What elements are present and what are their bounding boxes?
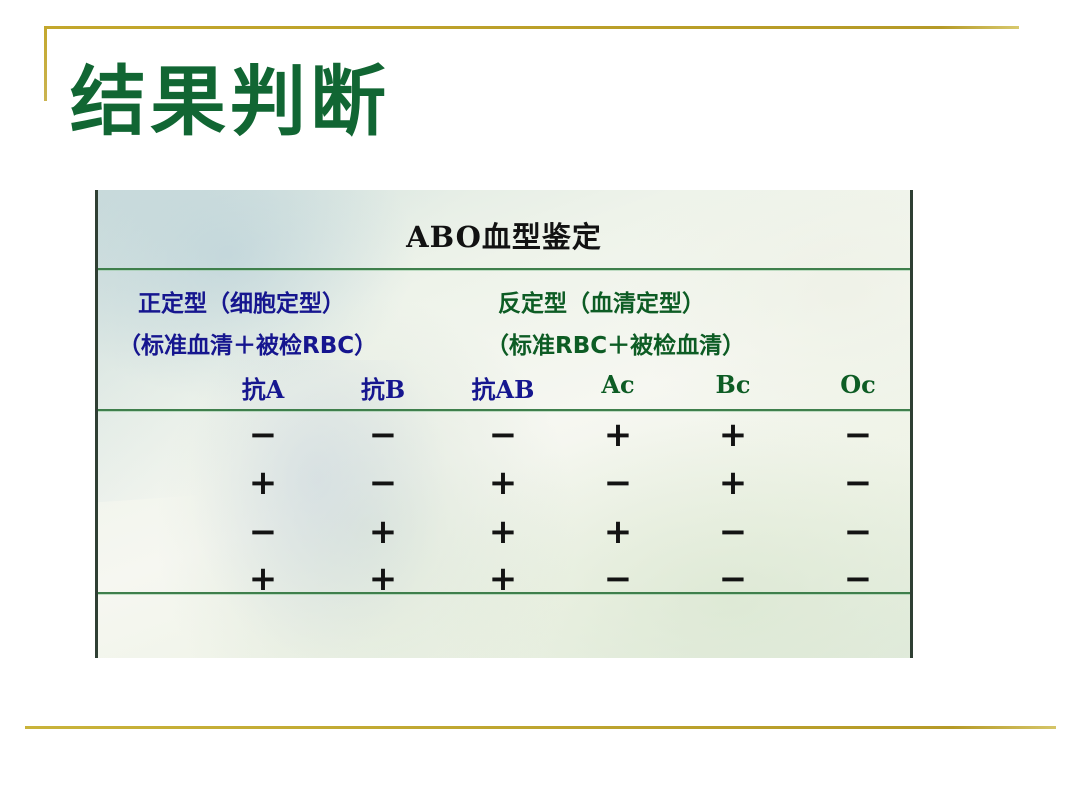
cell-r0-c2: −	[443, 418, 563, 452]
table-rule-top	[98, 268, 910, 270]
forward-typing-subtitle: （标准血清＋被检RBC）	[118, 326, 377, 360]
column-header-5: Oc	[798, 370, 913, 399]
cell-r0-c1: −	[323, 418, 443, 452]
cell-r1-c0: +	[203, 466, 323, 500]
abo-typing-table-image: ABO血型鉴定 正定型（细胞定型） 反定型（血清定型） （标准血清＋被检RBC）…	[95, 190, 913, 658]
cell-r2-c3: +	[558, 515, 678, 549]
table-caption: ABO血型鉴定	[98, 214, 910, 256]
reverse-typing-title: 反定型（血清定型）	[498, 284, 705, 318]
cell-r0-c0: −	[203, 418, 323, 452]
decorative-rule-bottom	[25, 726, 1056, 729]
cell-r2-c2: +	[443, 515, 563, 549]
reverse-typing-subtitle: （标准RBC＋被检血清）	[486, 326, 745, 360]
column-header-3: Ac	[558, 370, 678, 399]
decorative-rule-left	[44, 26, 47, 101]
table-rule-middle	[98, 409, 910, 411]
decorative-rule-top	[44, 26, 1019, 29]
column-header-0: 抗A	[203, 370, 323, 405]
cell-r0-c3: +	[558, 418, 678, 452]
cell-r2-c4: −	[673, 515, 793, 549]
cell-r1-c1: −	[323, 466, 443, 500]
cell-r3-c4: −	[673, 562, 793, 596]
cell-r2-c0: −	[203, 515, 323, 549]
column-header-4: Bc	[673, 370, 793, 399]
table-image-inner: ABO血型鉴定 正定型（细胞定型） 反定型（血清定型） （标准血清＋被检RBC）…	[98, 190, 910, 658]
column-header-2: 抗AB	[443, 370, 563, 405]
forward-typing-title: 正定型（细胞定型）	[138, 284, 345, 318]
result-header-line-1: 结果	[886, 314, 913, 350]
header-row-titles: 正定型（细胞定型） 反定型（血清定型）	[98, 284, 910, 320]
result-cell-r3: AB	[886, 568, 913, 593]
cell-r2-c1: +	[323, 515, 443, 549]
cell-r3-c2: +	[443, 562, 563, 596]
cell-r3-c0: +	[203, 562, 323, 596]
result-cell-r0: O	[886, 424, 913, 449]
cell-r1-c2: +	[443, 466, 563, 500]
cell-r1-c3: −	[558, 466, 678, 500]
cell-r0-c4: +	[673, 418, 793, 452]
result-cell-r1: A	[886, 472, 913, 497]
slide: 结果判断 ABO血型鉴定 正定型（细胞定型） 反定型（血清定型） （标准血清＋被…	[0, 0, 1080, 810]
cell-r3-c3: −	[558, 562, 678, 596]
header-row-subtitles: （标准血清＋被检RBC） （标准RBC＋被检血清）	[98, 326, 910, 362]
cell-r1-c4: +	[673, 466, 793, 500]
cell-r3-c1: +	[323, 562, 443, 596]
page-title: 结果判断	[70, 62, 390, 142]
result-cell-r2: B	[886, 521, 913, 546]
column-header-1: 抗B	[323, 370, 443, 405]
